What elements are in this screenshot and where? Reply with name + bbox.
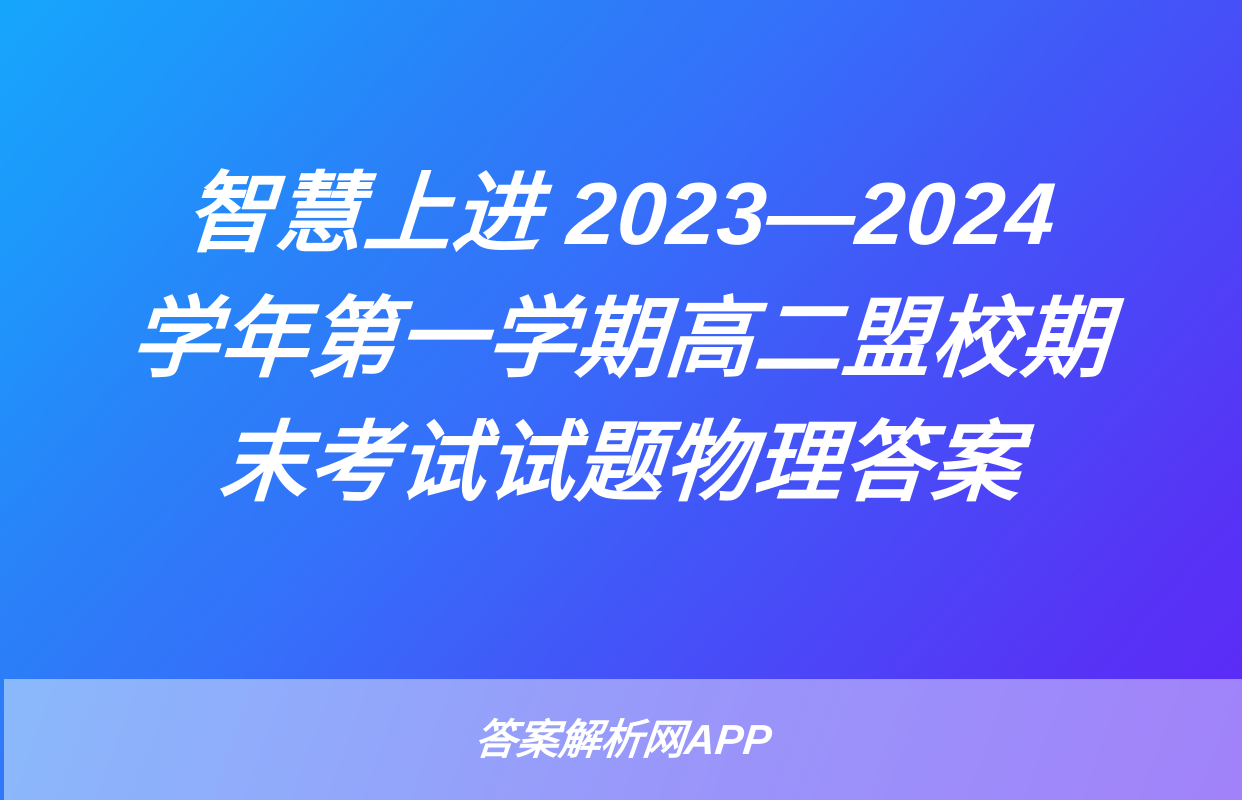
headline-line-1: 智慧上进 2023—2024 <box>182 152 1061 277</box>
watermark-label: 答案解析网APP <box>473 719 774 761</box>
headline-line-3: 末考试试题物理答案 <box>216 401 1026 526</box>
headline-block: 智慧上进 2023—2024 学年第一学期高二盟校期 末考试试题物理答案 <box>0 0 1242 678</box>
footer-watermark-band: 答案解析网APP <box>4 679 1242 800</box>
headline-line-2: 学年第一学期高二盟校期 <box>127 277 1115 402</box>
poster-canvas: 智慧上进 2023—2024 学年第一学期高二盟校期 末考试试题物理答案 答案解… <box>0 0 1242 800</box>
